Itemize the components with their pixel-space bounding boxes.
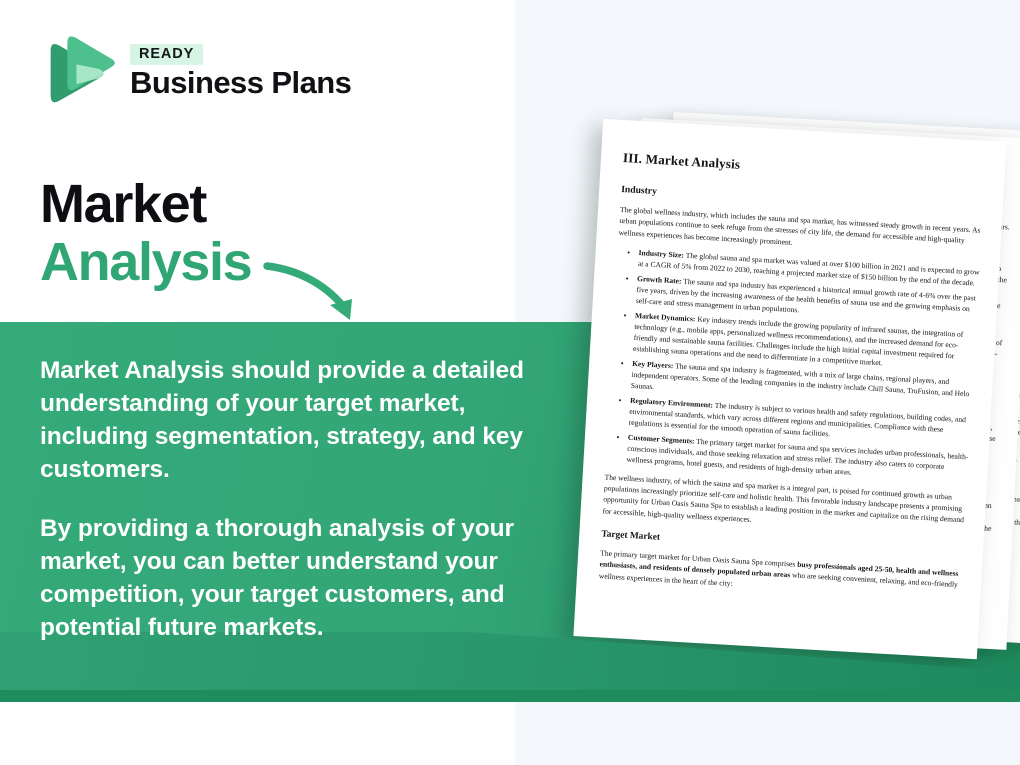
band-paragraph-1: Market Analysis should provide a detaile… bbox=[40, 354, 560, 486]
slide-canvas: III. Market Analysis Industry The global… bbox=[0, 0, 1020, 765]
headline-line-1: Market bbox=[40, 176, 251, 234]
ready-badge: READY bbox=[130, 44, 203, 65]
page-title: Market Analysis bbox=[40, 176, 251, 292]
document-bullet-list: Industry Size: The global sauna and spa … bbox=[605, 246, 981, 485]
curved-arrow-down-right-icon bbox=[262, 258, 372, 330]
document-sheet-front[interactable]: III. Market Analysis Industry The global… bbox=[573, 119, 1006, 659]
band-copy: Market Analysis should provide a detaile… bbox=[40, 354, 560, 645]
brand-lockup[interactable]: READY Business Plans bbox=[40, 34, 351, 110]
document-title: III. Market Analysis bbox=[623, 150, 987, 187]
brand-name: Business Plans bbox=[130, 67, 351, 100]
band-paragraph-2: By providing a thorough analysis of your… bbox=[40, 512, 560, 644]
document-content-front: III. Market Analysis Industry The global… bbox=[599, 150, 987, 602]
brand-text: READY Business Plans bbox=[130, 44, 351, 100]
band-bottom-fill bbox=[0, 690, 1020, 702]
play-triangles-logo-icon bbox=[40, 34, 116, 110]
headline-line-2: Analysis bbox=[40, 234, 251, 292]
